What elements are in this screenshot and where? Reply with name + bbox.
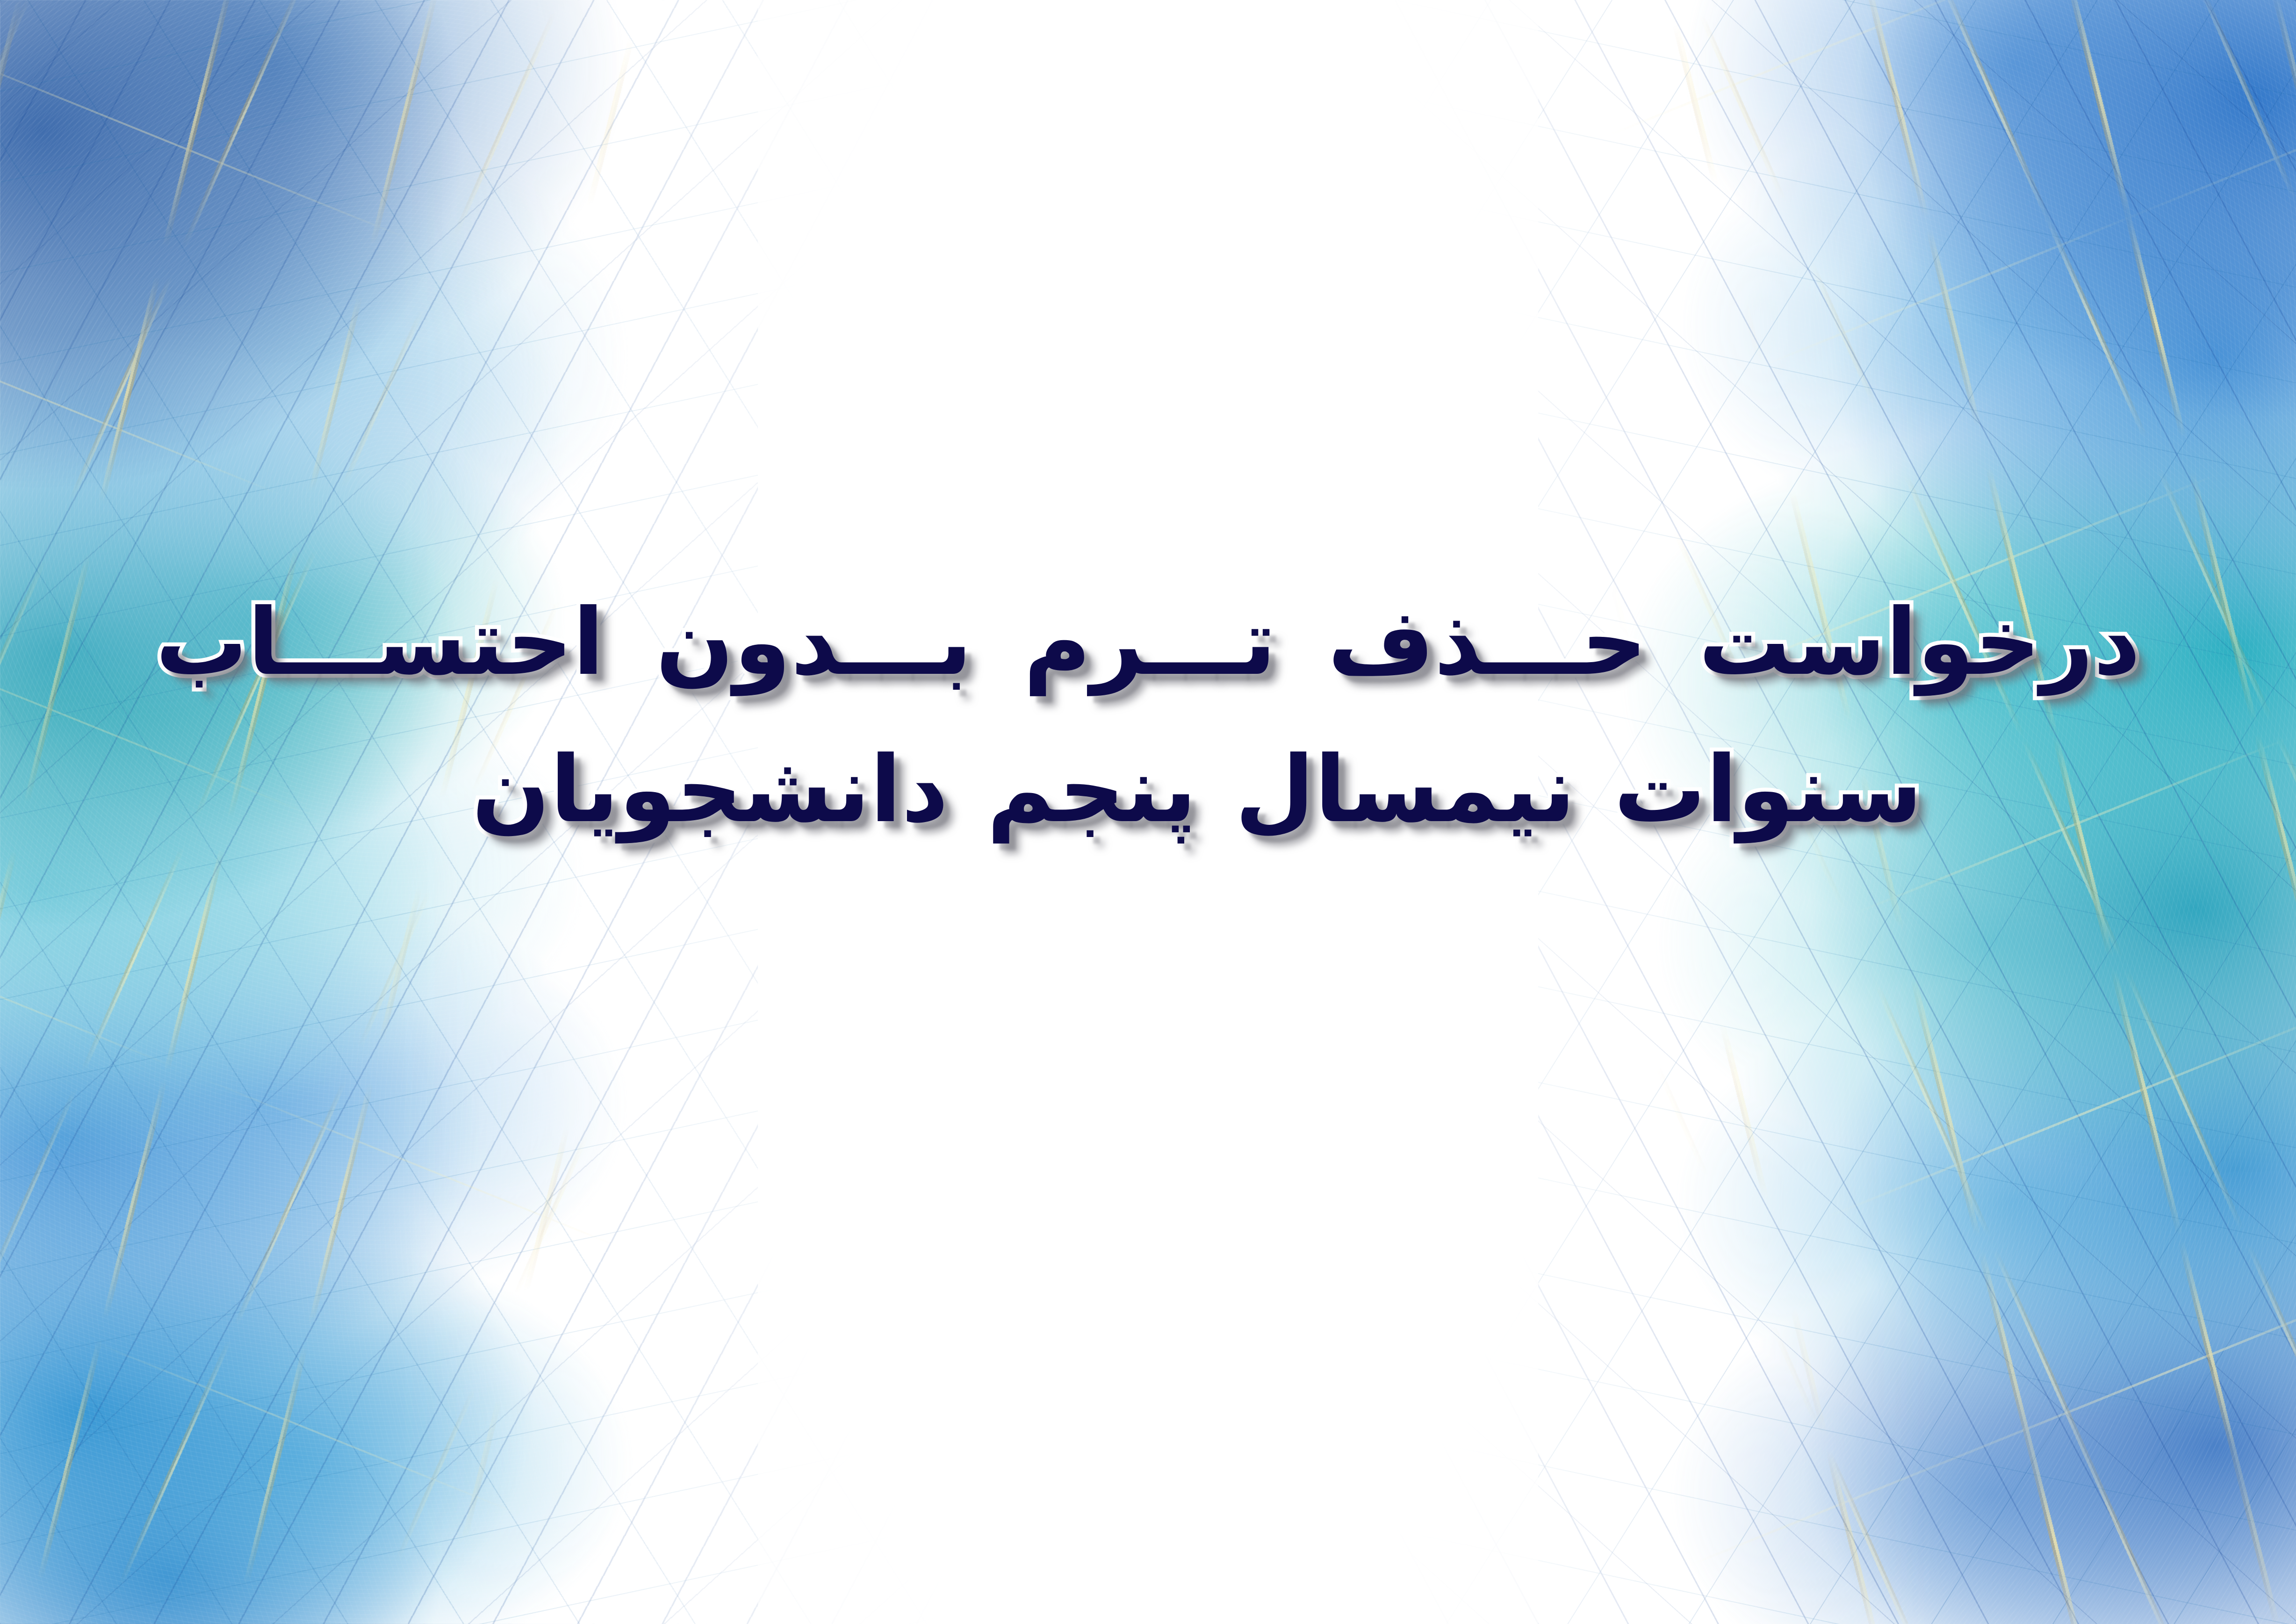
title-line-1: درخواست حـــذف تـــرم بـــدون احتســـاب xyxy=(0,582,2296,703)
title-line-2: سنوات نیمسال پنجم دانشجویان xyxy=(0,729,2296,851)
title-slide: درخواست حـــذف تـــرم بـــدون احتســـاب … xyxy=(0,0,2296,1624)
slide-title-block: درخواست حـــذف تـــرم بـــدون احتســـاب … xyxy=(0,582,2296,850)
